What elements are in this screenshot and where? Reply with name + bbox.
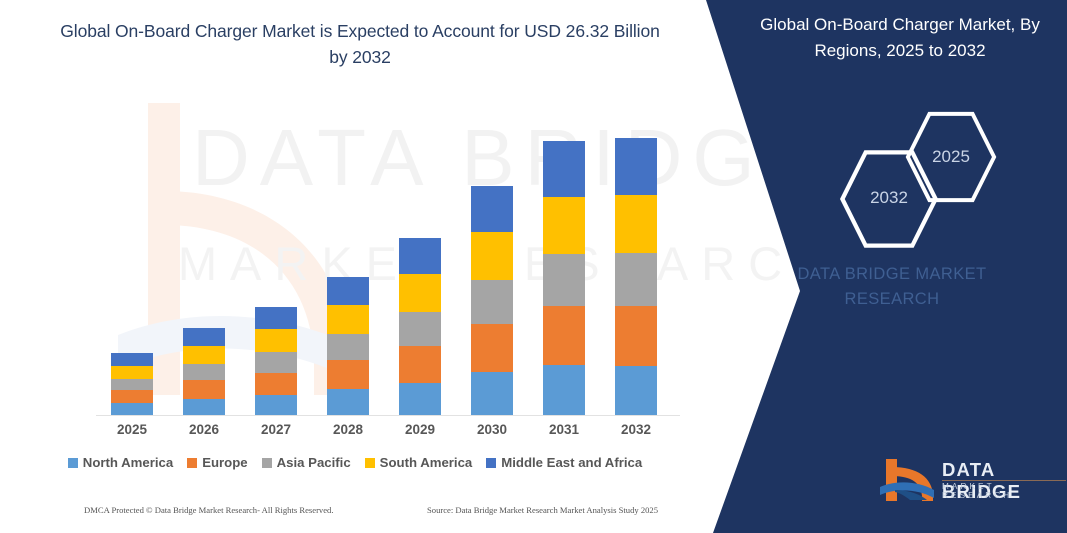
legend-swatch-icon bbox=[187, 458, 197, 468]
x-axis-label-2025: 2025 bbox=[96, 422, 168, 437]
legend-item[interactable]: Middle East and Africa bbox=[486, 455, 642, 470]
x-axis-label-2026: 2026 bbox=[168, 422, 240, 437]
bar-segment[interactable] bbox=[399, 383, 441, 416]
right-panel-brand-text: DATA BRIDGE MARKET RESEARCH bbox=[722, 262, 1062, 312]
bar-segment[interactable] bbox=[255, 395, 297, 416]
bar-segment[interactable] bbox=[471, 372, 513, 416]
infographic-canvas: DATA BRIDGE MARKET RESEARCH Global On-Bo… bbox=[0, 0, 1067, 533]
stacked-bar-chart bbox=[96, 110, 676, 416]
bar-segment[interactable] bbox=[111, 390, 153, 403]
bar-segment[interactable] bbox=[111, 366, 153, 379]
legend-swatch-icon bbox=[486, 458, 496, 468]
bar-segment[interactable] bbox=[255, 307, 297, 329]
legend-item[interactable]: Asia Pacific bbox=[262, 455, 351, 470]
footer-copyright: DMCA Protected © Data Bridge Market Rese… bbox=[84, 505, 334, 515]
bar-segment[interactable] bbox=[327, 389, 369, 416]
legend-swatch-icon bbox=[262, 458, 272, 468]
bar-segment[interactable] bbox=[399, 346, 441, 383]
bar-segment[interactable] bbox=[327, 305, 369, 334]
bar-segment[interactable] bbox=[183, 346, 225, 364]
bar-segment[interactable] bbox=[255, 329, 297, 352]
x-axis-line bbox=[96, 415, 680, 416]
bar-segment[interactable] bbox=[615, 195, 657, 253]
bar-segment[interactable] bbox=[327, 334, 369, 360]
legend-swatch-icon bbox=[68, 458, 78, 468]
bar-column-2031[interactable] bbox=[543, 141, 585, 416]
legend-label: Middle East and Africa bbox=[501, 455, 642, 470]
x-axis-label-2030: 2030 bbox=[456, 422, 528, 437]
bar-segment[interactable] bbox=[615, 253, 657, 306]
bar-segment[interactable] bbox=[471, 280, 513, 324]
bar-segment[interactable] bbox=[183, 380, 225, 399]
bar-segment[interactable] bbox=[255, 373, 297, 395]
bar-segment[interactable] bbox=[543, 254, 585, 306]
right-panel-title: Global On-Board Charger Market, By Regio… bbox=[740, 12, 1060, 65]
legend-item[interactable]: North America bbox=[68, 455, 173, 470]
brand-text-line-1: DATA BRIDGE MARKET bbox=[722, 262, 1062, 287]
bar-column-2025[interactable] bbox=[111, 353, 153, 416]
bar-segment[interactable] bbox=[183, 364, 225, 380]
x-axis-label-2029: 2029 bbox=[384, 422, 456, 437]
brand-text-line-2: RESEARCH bbox=[722, 287, 1062, 312]
bar-segment[interactable] bbox=[615, 366, 657, 416]
bar-column-2029[interactable] bbox=[399, 238, 441, 416]
legend-swatch-icon bbox=[365, 458, 375, 468]
bar-segment[interactable] bbox=[543, 141, 585, 197]
bar-segment[interactable] bbox=[615, 138, 657, 195]
bar-segment[interactable] bbox=[543, 306, 585, 365]
legend-label: Asia Pacific bbox=[277, 455, 351, 470]
right-panel: Global On-Board Charger Market, By Regio… bbox=[712, 0, 1067, 533]
chart-legend: North AmericaEuropeAsia PacificSouth Ame… bbox=[0, 455, 710, 470]
legend-label: South America bbox=[380, 455, 473, 470]
legend-label: North America bbox=[83, 455, 173, 470]
bar-segment[interactable] bbox=[183, 328, 225, 346]
bar-segment[interactable] bbox=[399, 274, 441, 312]
databridge-logo: DATA BRIDGE MARKET RESEARCH bbox=[880, 455, 1065, 505]
bar-segment[interactable] bbox=[399, 238, 441, 274]
bar-segment[interactable] bbox=[615, 306, 657, 366]
bar-column-2028[interactable] bbox=[327, 277, 369, 416]
bar-segment[interactable] bbox=[543, 365, 585, 416]
legend-item[interactable]: Europe bbox=[187, 455, 247, 470]
x-axis-label-2031: 2031 bbox=[528, 422, 600, 437]
bar-segment[interactable] bbox=[111, 353, 153, 366]
bar-column-2032[interactable] bbox=[615, 138, 657, 416]
bar-column-2027[interactable] bbox=[255, 307, 297, 416]
chart-panel: DATA BRIDGE MARKET RESEARCH Global On-Bo… bbox=[0, 0, 710, 533]
databridge-logo-mark-icon bbox=[880, 457, 936, 503]
x-axis-label-2032: 2032 bbox=[600, 422, 672, 437]
bar-segment[interactable] bbox=[327, 277, 369, 305]
logo-name-line-2: MARKET RESEARCH bbox=[942, 482, 1065, 500]
x-axis-labels: 20252026202720282029203020312032 bbox=[96, 422, 680, 444]
x-axis-label-2027: 2027 bbox=[240, 422, 312, 437]
bar-segment[interactable] bbox=[255, 352, 297, 373]
bar-column-2030[interactable] bbox=[471, 186, 513, 416]
bar-segment[interactable] bbox=[327, 360, 369, 389]
bar-segment[interactable] bbox=[471, 186, 513, 232]
logo-divider bbox=[942, 480, 1066, 481]
bar-segment[interactable] bbox=[471, 232, 513, 280]
bar-segment[interactable] bbox=[471, 324, 513, 372]
bar-column-2026[interactable] bbox=[183, 328, 225, 416]
hexagon-2032-label: 2032 bbox=[836, 188, 942, 208]
bar-segment[interactable] bbox=[111, 379, 153, 390]
legend-item[interactable]: South America bbox=[365, 455, 473, 470]
footer-source: Source: Data Bridge Market Research Mark… bbox=[427, 505, 658, 515]
bar-segment[interactable] bbox=[399, 312, 441, 346]
x-axis-label-2028: 2028 bbox=[312, 422, 384, 437]
page-title: Global On-Board Charger Market is Expect… bbox=[60, 18, 660, 71]
bar-segment[interactable] bbox=[543, 197, 585, 254]
legend-label: Europe bbox=[202, 455, 247, 470]
bar-segment[interactable] bbox=[183, 399, 225, 416]
